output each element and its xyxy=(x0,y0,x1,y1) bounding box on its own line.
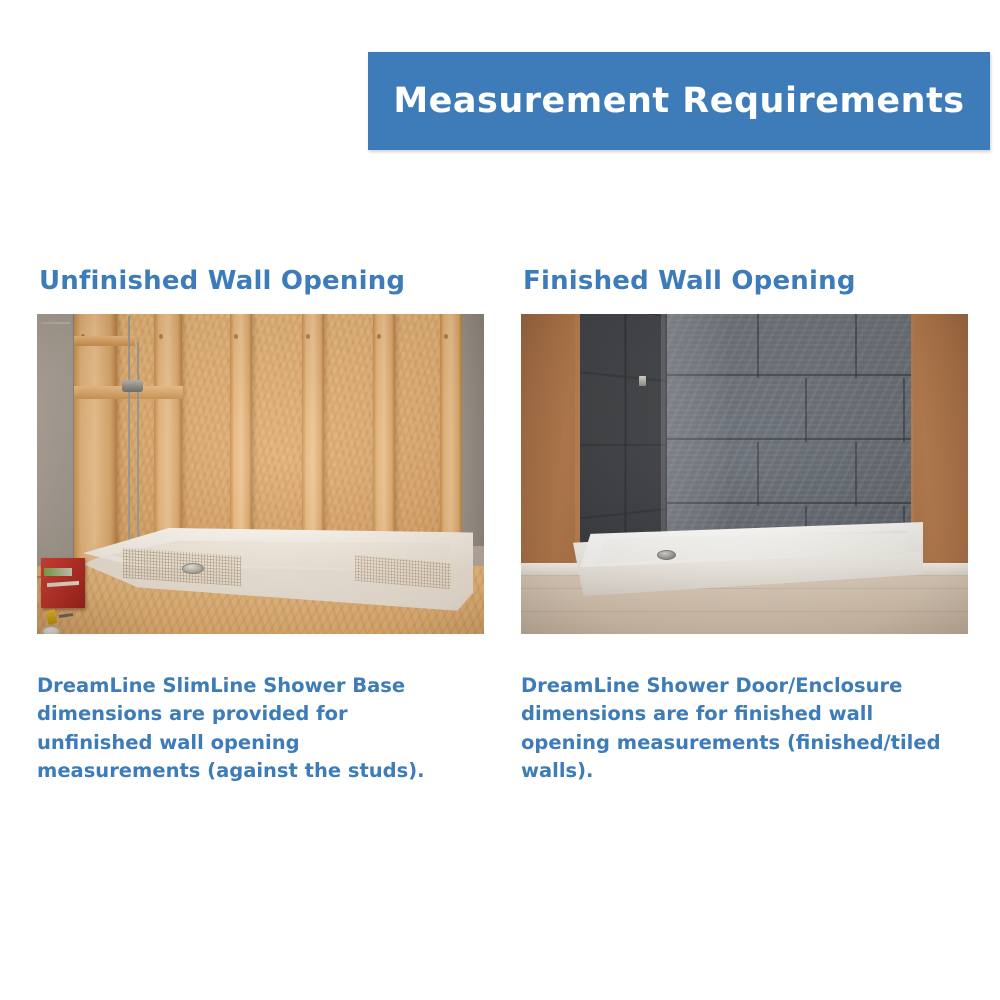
panel-finished-wall-opening: Finished Wall Opening DreamLine Shower D… xyxy=(521,266,971,805)
grout-lines-vertical xyxy=(661,314,911,378)
right-wall-edge xyxy=(462,314,484,546)
header-banner: Measurement Requirements xyxy=(368,52,990,150)
panel-title-finished: Finished Wall Opening xyxy=(523,266,971,296)
grout-lines-vertical xyxy=(661,442,911,506)
unfinished-wall-opening-photo xyxy=(37,314,484,634)
wall-stud xyxy=(302,314,324,566)
wall-stud xyxy=(373,314,395,566)
panel-title-unfinished: Unfinished Wall Opening xyxy=(39,266,487,296)
wall-stud xyxy=(73,314,117,566)
horizontal-blocking xyxy=(73,336,135,346)
grout-lines-vertical xyxy=(661,378,911,442)
caption-unfinished: DreamLine SlimLine Shower Base dimension… xyxy=(37,672,469,785)
plumbing-valve xyxy=(122,380,143,392)
wall-stud xyxy=(230,314,252,566)
wall-stud xyxy=(440,314,462,566)
shower-drain-icon xyxy=(657,550,676,560)
painted-wall-left xyxy=(521,314,575,576)
finished-wall-opening-photo xyxy=(521,314,968,634)
plumbing-pipe xyxy=(128,316,130,546)
page-title: Measurement Requirements xyxy=(393,81,964,121)
caption-finished: DreamLine Shower Door/Enclosure dimensio… xyxy=(521,672,961,785)
red-toolbox xyxy=(41,558,85,608)
osb-sheathing-back-wall xyxy=(73,314,462,566)
wall-fixture-icon xyxy=(639,376,646,386)
shower-drain-icon xyxy=(182,563,204,574)
plumbing-pipe xyxy=(137,342,139,568)
drywall-panel xyxy=(37,314,74,572)
panel-unfinished-wall-opening: Unfinished Wall Opening DreamLine SlimLi… xyxy=(37,266,487,805)
tape-roll xyxy=(42,626,60,634)
